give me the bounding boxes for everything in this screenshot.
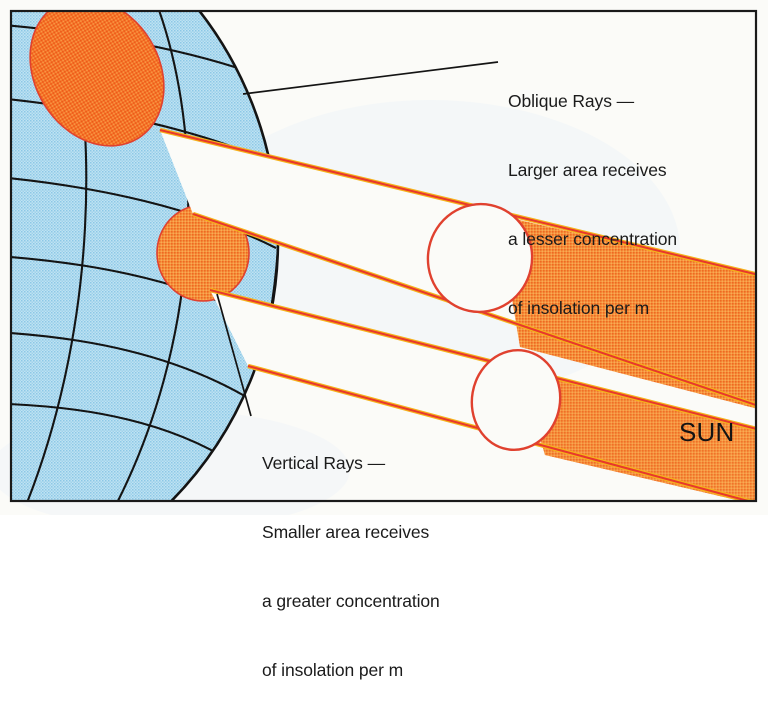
insolation-diagram: Oblique Rays — Larger area receives a le…	[0, 0, 768, 515]
vertical-line-2: Smaller area receives	[262, 521, 440, 544]
oblique-line-4: of insolation per m	[508, 297, 677, 320]
oblique-line-3: a lesser concentration	[508, 228, 677, 251]
sun-label: SUN	[679, 417, 735, 448]
oblique-line-2: Larger area receives	[508, 159, 677, 182]
vertical-line-3: a greater concentration	[262, 590, 440, 613]
oblique-line-1: Oblique Rays —	[508, 90, 677, 113]
vertical-line-1: Vertical Rays —	[262, 452, 440, 475]
vertical-rays-annotation: Vertical Rays — Smaller area receives a …	[262, 406, 440, 728]
vertical-line-4: of insolation per m	[262, 659, 440, 682]
oblique-rays-annotation: Oblique Rays — Larger area receives a le…	[508, 44, 677, 366]
